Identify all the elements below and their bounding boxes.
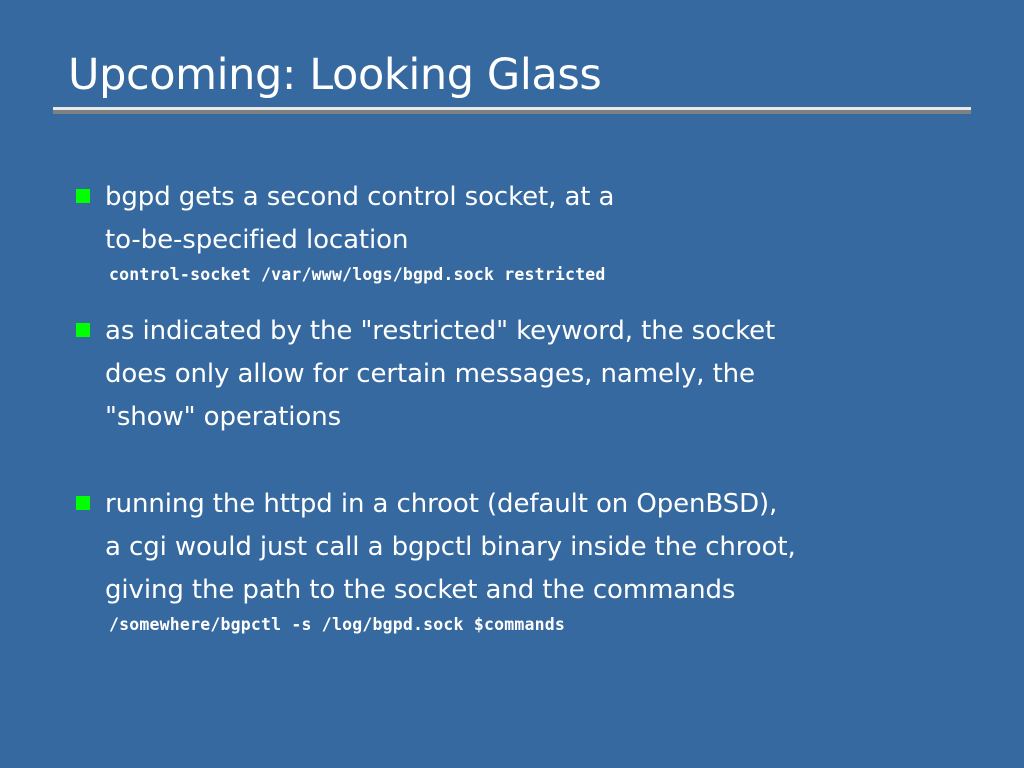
square-bullet-icon xyxy=(76,323,90,337)
page-title: Upcoming: Looking Glass xyxy=(68,52,971,98)
bullet-text: bgpd gets a second control socket, at a … xyxy=(105,176,976,262)
slide-body: bgpd gets a second control socket, at a … xyxy=(76,176,976,638)
title-divider xyxy=(53,107,971,110)
spacer xyxy=(76,288,976,310)
code-snippet: /somewhere/bgpctl -s /log/bgpd.sock $com… xyxy=(76,612,976,638)
spacer xyxy=(76,439,976,483)
square-bullet-icon xyxy=(76,189,90,203)
slide-header: Upcoming: Looking Glass xyxy=(53,52,971,110)
list-item: as indicated by the "restricted" keyword… xyxy=(76,310,976,439)
code-snippet: control-socket /var/www/logs/bgpd.sock r… xyxy=(76,262,976,288)
list-item: running the httpd in a chroot (default o… xyxy=(76,483,976,612)
list-item: bgpd gets a second control socket, at a … xyxy=(76,176,976,262)
bullet-text: as indicated by the "restricted" keyword… xyxy=(105,310,976,439)
bullet-text: running the httpd in a chroot (default o… xyxy=(105,483,976,612)
presentation-slide: Upcoming: Looking Glass bgpd gets a seco… xyxy=(0,0,1024,768)
square-bullet-icon xyxy=(76,496,90,510)
